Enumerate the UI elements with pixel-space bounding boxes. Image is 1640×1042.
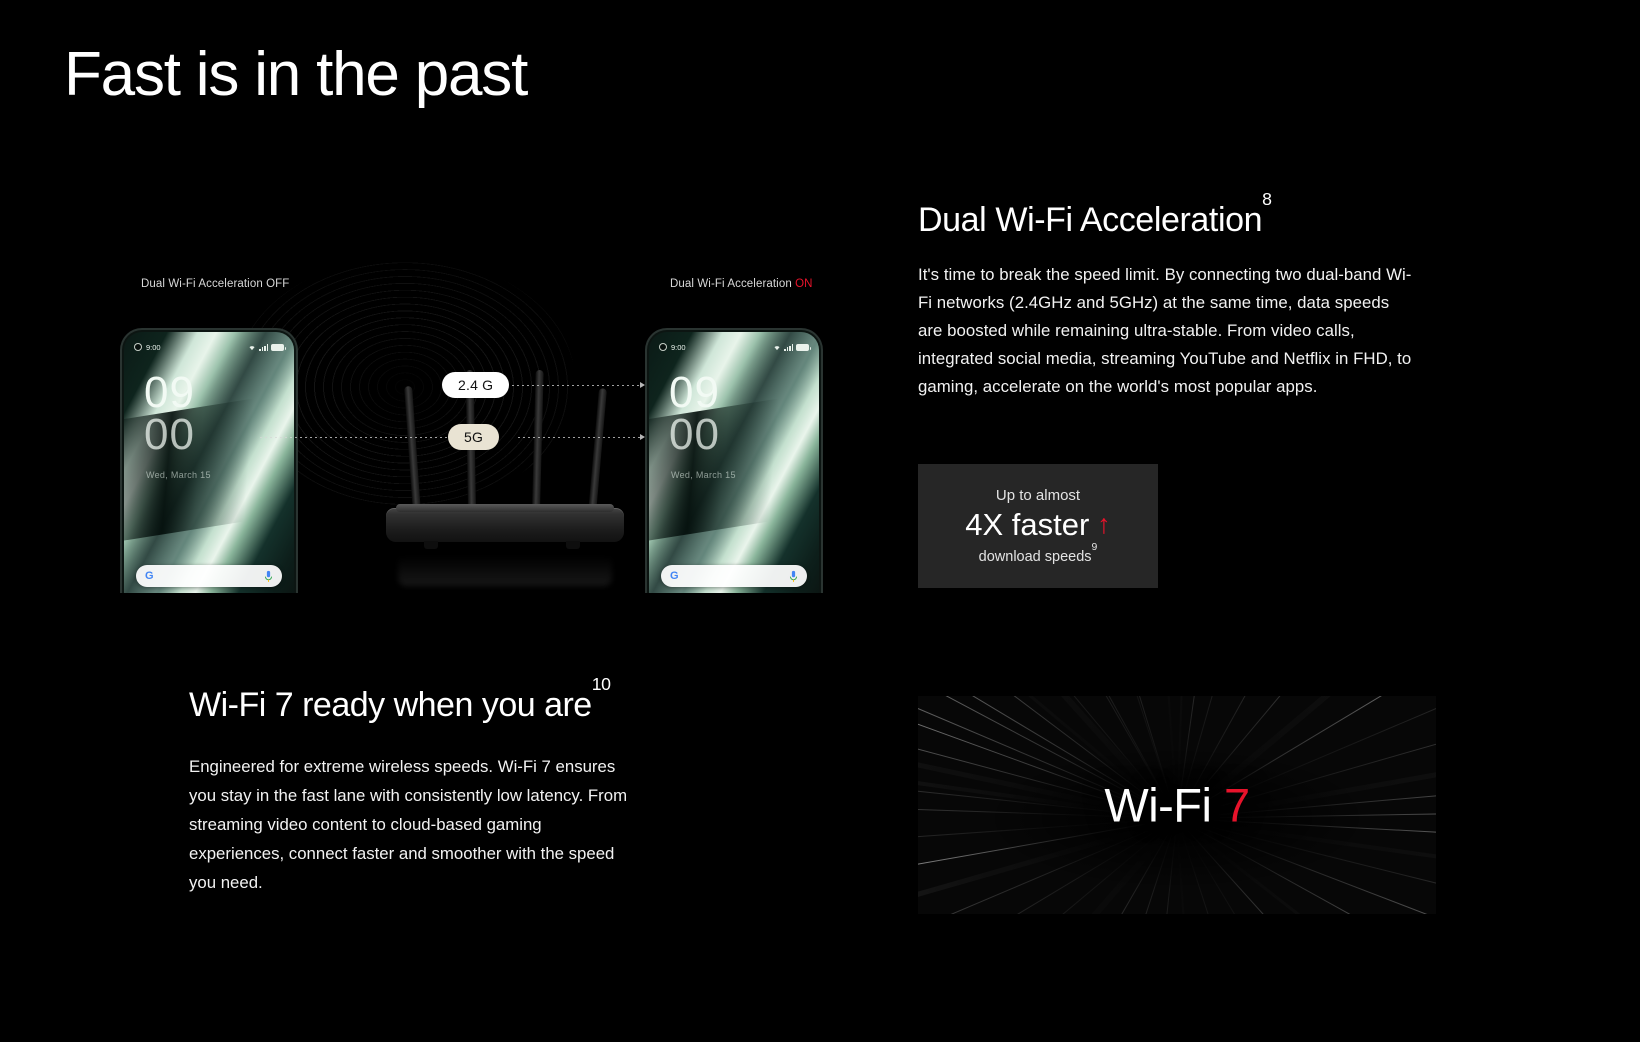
wifi7-heading-footnote: 10 <box>592 674 611 694</box>
page-title: Fast is in the past <box>64 42 527 107</box>
front-camera-icon <box>659 343 667 351</box>
download-speed-stat-card: Up to almost 4X faster ↑ download speeds… <box>918 464 1158 588</box>
dual-wifi-heading-footnote: 8 <box>1262 189 1271 209</box>
router-antenna <box>588 388 607 514</box>
stat-card-top-label: Up to almost <box>996 487 1080 504</box>
stat-card-bottom-footnote: 9 <box>1092 542 1098 553</box>
google-search-bar[interactable]: G <box>136 565 282 587</box>
dual-wifi-heading: Dual Wi-Fi Acceleration8 <box>918 200 1418 240</box>
lockscreen-clock-hour: 09 <box>144 372 195 414</box>
mic-icon[interactable] <box>264 570 273 583</box>
wifi-router-image <box>380 392 630 592</box>
google-search-bar[interactable]: G <box>661 565 807 587</box>
battery-icon <box>271 344 284 351</box>
front-camera-icon <box>134 343 142 351</box>
hero-label-acceleration-off: Dual Wi-Fi Acceleration OFF <box>141 278 289 290</box>
wifi-icon <box>248 344 256 351</box>
lockscreen-date: Wed, March 15 <box>146 470 211 480</box>
stat-card-value-row: 4X faster ↑ <box>965 508 1111 542</box>
router-body <box>386 508 624 542</box>
lockscreen-date: Wed, March 15 <box>671 470 736 480</box>
google-logo-icon: G <box>670 571 679 582</box>
stat-card-value: 4X faster <box>965 508 1089 542</box>
cellular-signal-icon <box>784 344 793 351</box>
stat-card-bottom-text: download speeds <box>979 549 1092 565</box>
band-pill-5g: 5G <box>448 424 499 450</box>
router-reflection <box>398 546 612 586</box>
phone-mockup-acceleration-off: 9:00 09 00 Wed, March 15 G <box>120 328 298 593</box>
dual-wifi-text-block: Dual Wi-Fi Acceleration8 It's time to br… <box>918 200 1418 400</box>
status-bar-time: 9:00 <box>671 343 686 352</box>
wifi7-body: Engineered for extreme wireless speeds. … <box>189 753 629 897</box>
marketing-page: Fast is in the past Dual Wi-Fi Accelerat… <box>0 0 1640 1042</box>
lockscreen-clock-minute: 00 <box>144 414 195 456</box>
hero-label-on-state: ON <box>795 278 812 290</box>
connector-line-5g-left <box>260 437 450 438</box>
dual-wifi-illustration: Dual Wi-Fi Acceleration OFF Dual Wi-Fi A… <box>60 262 860 592</box>
stat-card-bottom-label: download speeds9 <box>979 547 1098 565</box>
dual-wifi-body: It's time to break the speed limit. By c… <box>918 261 1418 400</box>
connector-line-5g-right <box>518 437 643 438</box>
wifi7-speed-tunnel-card: Wi-Fi 7 <box>918 696 1436 914</box>
wifi7-tunnel-label-red: 7 <box>1224 779 1250 832</box>
wifi-icon <box>773 344 781 351</box>
connector-arrow-5g-icon <box>640 434 645 440</box>
phone-status-bar: 9:00 <box>122 340 296 354</box>
phone-status-bar: 9:00 <box>647 340 821 354</box>
wifi7-heading-text: Wi-Fi 7 ready when you are <box>189 686 592 724</box>
wifi7-tunnel-label-white: Wi-Fi <box>1104 779 1224 832</box>
connector-arrow-24g-icon <box>640 382 645 388</box>
wifi7-heading: Wi-Fi 7 ready when you are10 <box>189 686 709 725</box>
wifi7-tunnel-label: Wi-Fi 7 <box>918 778 1436 833</box>
battery-icon <box>796 344 809 351</box>
wifi7-text-block: Wi-Fi 7 ready when you are10 Engineered … <box>189 686 709 897</box>
lockscreen-clock-minute: 00 <box>669 414 720 456</box>
lockscreen-clock: 09 00 <box>669 372 720 456</box>
router-antenna <box>404 386 421 514</box>
lockscreen-clock: 09 00 <box>144 372 195 456</box>
lockscreen-clock-hour: 09 <box>669 372 720 414</box>
hero-label-acceleration-on: Dual Wi-Fi Acceleration ON <box>670 278 813 290</box>
connector-line-24g <box>512 385 642 386</box>
mic-icon[interactable] <box>789 570 798 583</box>
cellular-signal-icon <box>259 344 268 351</box>
phone-mockup-acceleration-on: 9:00 09 00 Wed, March 15 G <box>645 328 823 593</box>
band-pill-24g: 2.4 G <box>442 372 509 398</box>
arrow-up-icon: ↑ <box>1097 511 1111 538</box>
status-bar-time: 9:00 <box>146 343 161 352</box>
google-logo-icon: G <box>145 571 154 582</box>
dual-wifi-heading-text: Dual Wi-Fi Acceleration <box>918 201 1262 239</box>
hero-label-on-prefix: Dual Wi-Fi Acceleration <box>670 278 795 290</box>
